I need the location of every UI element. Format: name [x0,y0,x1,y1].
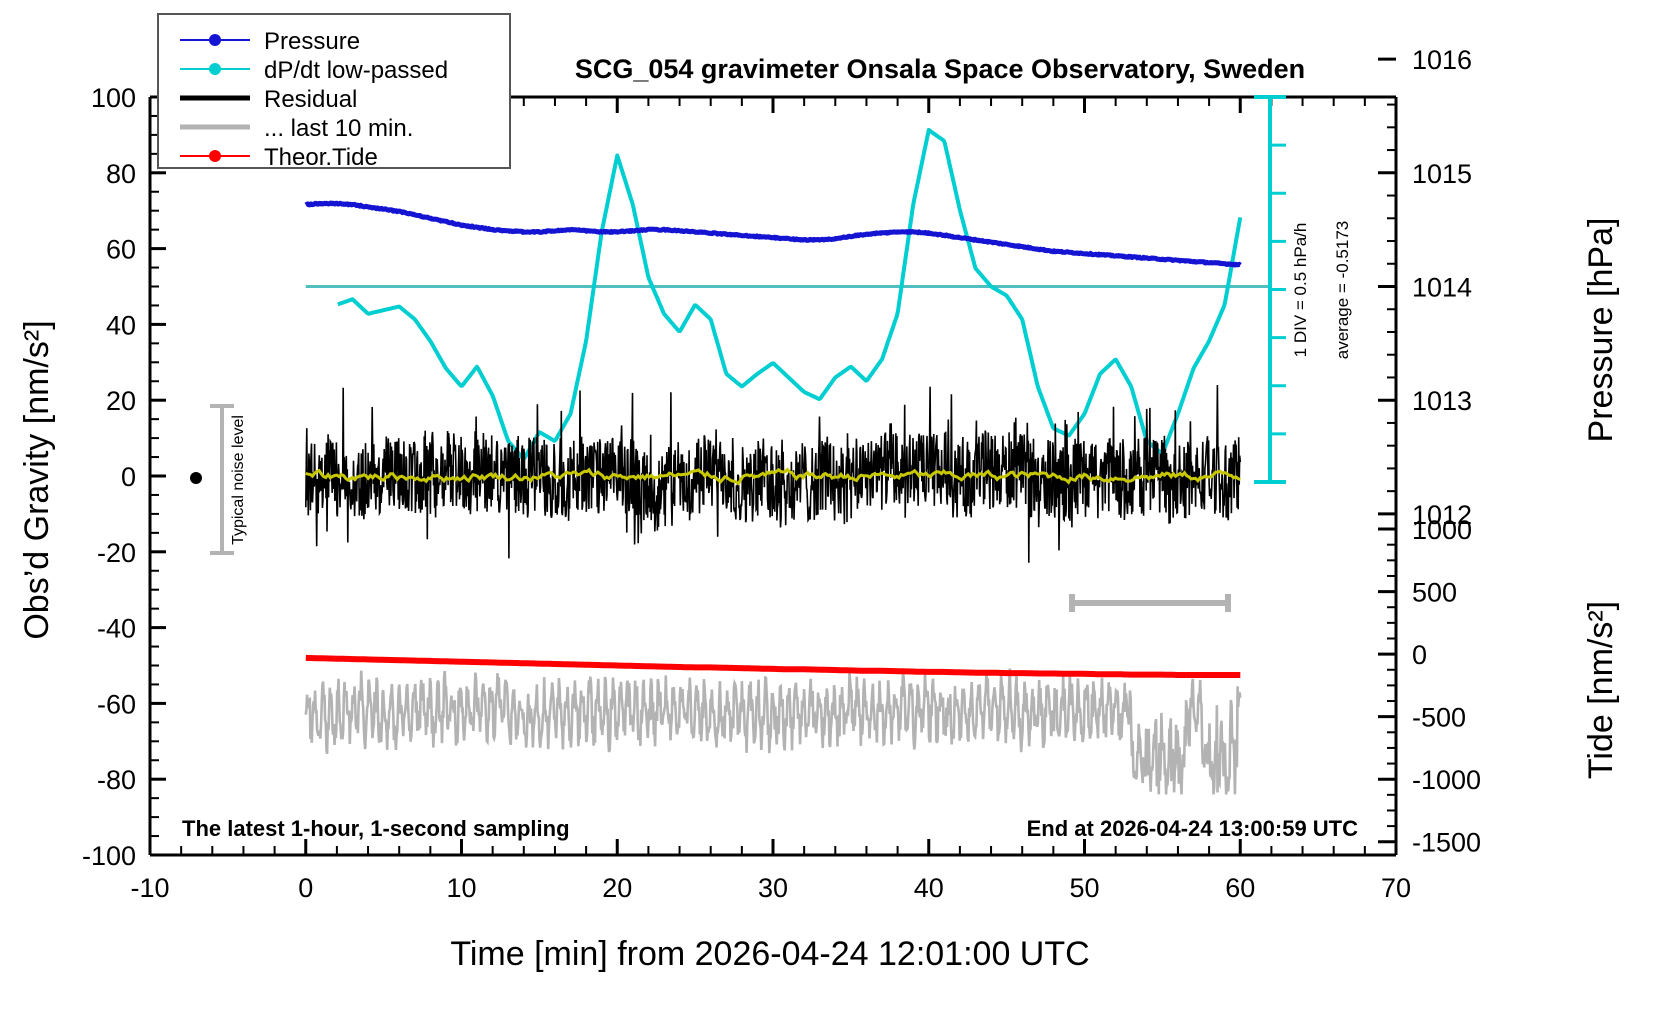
dpdt-div-label: 1 DIV = 0.5 hPa/h [1291,223,1310,358]
tide-tick-1000: 1000 [1412,515,1472,545]
pressure-tick-1015: 1015 [1412,159,1472,189]
y-tick--80: -80 [97,765,136,795]
legend-swatch-marker [209,63,221,75]
legend-label-3: ... last 10 min. [264,115,413,142]
y-tick-60: 60 [106,235,136,265]
pressure-tick-1014: 1014 [1412,273,1472,303]
x-tick-60: 60 [1225,873,1255,903]
right-axis-label-pressure: Pressure [hPa] [1582,218,1620,443]
y-tick--40: -40 [97,614,136,644]
tide-tick--1500: -1500 [1412,828,1481,858]
tide-tick-500: 500 [1412,578,1457,608]
y-tick-20: 20 [106,386,136,416]
x-tick-10: 10 [446,873,476,903]
chart-title: SCG_054 gravimeter Onsala Space Observat… [575,54,1305,84]
y-tick--60: -60 [97,689,136,719]
legend[interactable]: PressuredP/dt low-passedResidual... last… [158,14,510,171]
x-tick-50: 50 [1069,873,1099,903]
tide-tick--500: -500 [1412,703,1466,733]
gravimeter-plot-page: Obs’d Gravity [nm/s²] Time [min] from 20… [0,0,1660,1020]
x-tick-20: 20 [602,873,632,903]
typical-noise-level-label: Typical noise level [230,415,247,545]
y-tick--100: -100 [82,841,136,871]
x-tick-30: 30 [758,873,788,903]
tide-tick-0: 0 [1412,640,1427,670]
x-tick--10: -10 [130,873,169,903]
x-tick-0: 0 [298,873,313,903]
x-axis-label: Time [min] from 2026-04-24 12:01:00 UTC [450,935,1089,973]
x-tick-40: 40 [914,873,944,903]
dpdt-average-label: average = -0.5173 [1333,221,1352,359]
x-tick-70: 70 [1381,873,1411,903]
y-axis-label: Obs’d Gravity [nm/s²] [18,320,56,639]
legend-label-0: Pressure [264,28,360,55]
gravimeter-chart: Obs’d Gravity [nm/s²] Time [min] from 20… [0,0,1660,1020]
pressure-tick-1016: 1016 [1412,45,1472,75]
y-tick--20: -20 [97,538,136,568]
y-tick-40: 40 [106,310,136,340]
right-axis-label-tide: Tide [nm/s²] [1582,601,1620,779]
y-tick-100: 100 [91,83,136,113]
legend-swatch-marker [209,150,221,162]
legend-label-1: dP/dt low-passed [264,57,448,84]
tide-tick--1000: -1000 [1412,765,1481,795]
y-tick-80: 80 [106,159,136,189]
footer-left-annotation: The latest 1-hour, 1-second sampling [182,816,570,841]
legend-label-4: Theor.Tide [264,144,378,171]
footer-right-annotation: End at 2026-04-24 13:00:59 UTC [1027,816,1358,841]
legend-label-2: Residual [264,86,357,113]
legend-swatch-marker [209,34,221,46]
y-tick-0: 0 [121,462,136,492]
pressure-tick-1013: 1013 [1412,386,1472,416]
